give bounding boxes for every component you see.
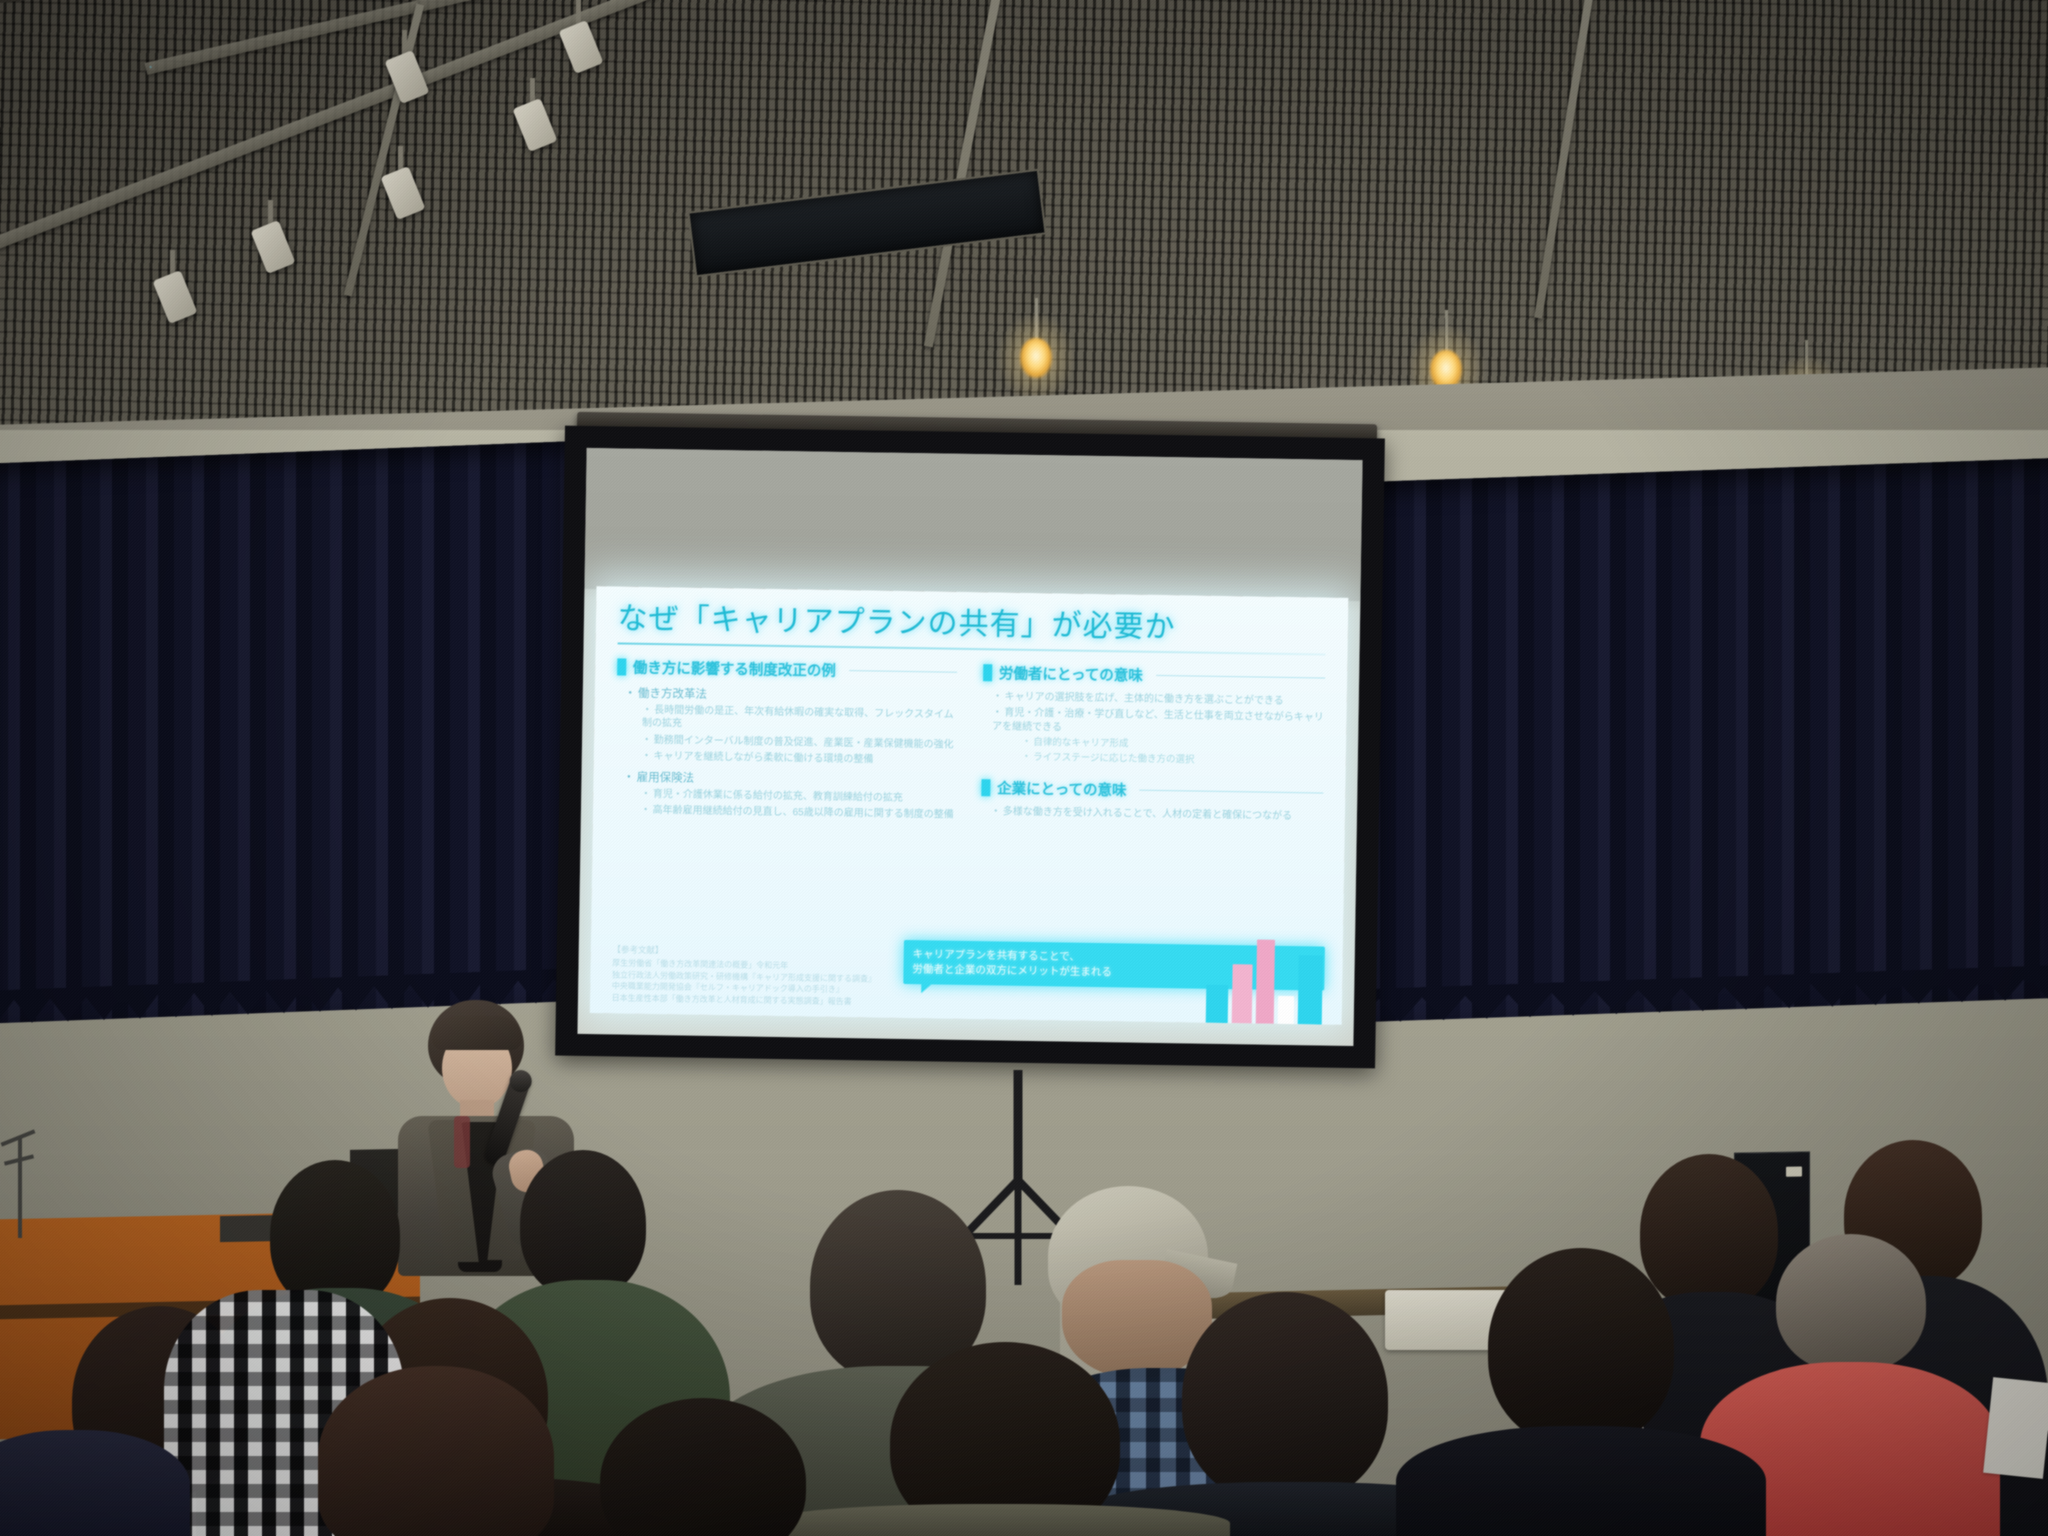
bullet-level2: 育児・介護休業に係る給付の拡充、教育訓練給付の拡充 xyxy=(641,788,955,806)
stage-curtain-left xyxy=(0,440,590,1023)
projected-slide: なぜ「キャリアプランの共有」が必要か 働き方に影響する制度改正の例 働き xyxy=(589,586,1348,1026)
audience-head-gray xyxy=(1776,1234,1926,1372)
bullet-level2: 高年齢雇用継続給付の見直し、65歳以降の雇用に関する制度の整備 xyxy=(640,804,954,822)
bullet-level2: 育児・介護・治療・学び直しなど、生活と仕事を両立させながらキャリアを継続できる xyxy=(992,707,1325,739)
slide-right-column: 労働者にとっての意味 キャリアの選択肢を広げ、主体的に働き方を選ぶことができる … xyxy=(981,662,1326,831)
audience-head xyxy=(1488,1248,1674,1446)
audience-shoulders xyxy=(760,1504,1230,1536)
stage-curtain-right xyxy=(1350,457,2048,1022)
left-column-heading: 働き方に影響する制度改正の例 xyxy=(617,656,957,682)
bullet-level1: 雇用保険法 xyxy=(623,768,955,789)
audience-head-brown xyxy=(318,1366,554,1536)
seminar-photo-scene: なぜ「キャリアプランの共有」が必要か 働き方に影響する制度改正の例 働き xyxy=(0,0,2048,1536)
bullet-level1: 働き方改革法 xyxy=(624,684,956,705)
audience-head xyxy=(1640,1154,1778,1310)
screen-unlit-area xyxy=(584,448,1362,601)
audience-head xyxy=(1182,1292,1388,1504)
audience-group xyxy=(0,1130,2048,1536)
handout-paper xyxy=(1983,1377,2048,1479)
left-heading-text: 働き方に影響する制度改正の例 xyxy=(633,656,836,680)
slide-title: なぜ「キャリアプランの共有」が必要か xyxy=(617,602,1326,646)
bullet-level2: 長時間労働の是正、年次有給休暇の確実な取得、フレックスタイム制の拡充 xyxy=(642,704,957,736)
bullet-level2: キャリアを継続しながら柔軟に働ける環境の整備 xyxy=(641,750,955,768)
heading-rule xyxy=(1139,790,1323,794)
right-column-heading-2: 企業にとっての意味 xyxy=(981,777,1324,803)
bullet-level2: キャリアの選択肢を広げ、主体的に働き方を選ぶことができる xyxy=(992,690,1325,709)
slide-left-column: 働き方に影響する制度改正の例 働き方改革法 長時間労働の是正、年次有給休暇の確実… xyxy=(614,656,957,825)
heading-accent-bar xyxy=(983,664,992,681)
audience-head xyxy=(520,1150,646,1298)
right-column-heading-1: 労働者にとっての意味 xyxy=(983,662,1326,688)
audience-shoulders xyxy=(1396,1426,1766,1536)
heading-rule xyxy=(849,670,957,673)
screen-frame: なぜ「キャリアプランの共有」が必要か 働き方に影響する制度改正の例 働き xyxy=(555,426,1385,1069)
ceiling xyxy=(0,0,2048,430)
right-heading-2-text: 企業にとっての意味 xyxy=(997,777,1127,800)
heading-accent-bar xyxy=(981,779,990,796)
right-heading-1-text: 労働者にとっての意味 xyxy=(999,662,1143,685)
heading-accent-bar xyxy=(617,658,626,675)
bullet-level3: ライフステージに応じた働き方の選択 xyxy=(1022,751,1325,768)
slide-bar-graphic xyxy=(1204,927,1335,1025)
heading-rule xyxy=(1156,675,1326,679)
bullet-level2: 多様な働き方を受け入れることで、人材の定着と確保につながる xyxy=(991,805,1324,824)
projection-screen: なぜ「キャリアプランの共有」が必要か 働き方に影響する制度改正の例 働き xyxy=(555,412,1387,1085)
bullet-level2: 勤務間インターバル制度の普及促進、産業医・産業保健機能の強化 xyxy=(642,734,956,752)
screen-surface: なぜ「キャリアプランの共有」が必要か 働き方に影響する制度改正の例 働き xyxy=(577,448,1362,1046)
